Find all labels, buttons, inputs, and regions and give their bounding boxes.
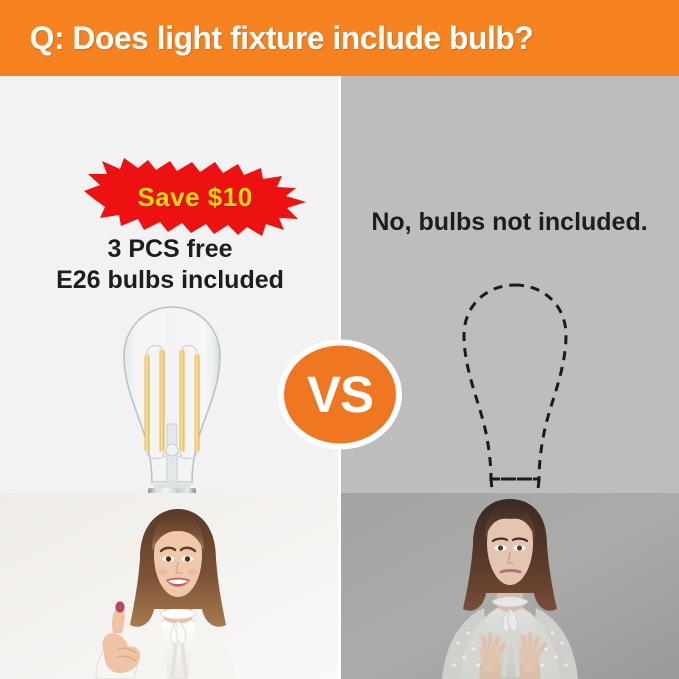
disappointed-customer-photo [340, 493, 679, 679]
left-headline-line2: E26 bulbs included [0, 265, 340, 296]
comparison-section: Save $10 3 PCS free E26 bulbs included N… [0, 76, 679, 493]
right-headline: No, bulbs not included. [340, 208, 679, 237]
save-badge: Save $10 [84, 158, 306, 236]
left-headline-line1: 3 PCS free [0, 234, 340, 265]
page-title: Q: Does light fixture include bulb? [0, 20, 533, 57]
happy-customer-photo [0, 493, 340, 679]
left-headline: 3 PCS free E26 bulbs included [0, 234, 340, 296]
vs-badge: VS [277, 338, 403, 451]
header-banner: Q: Does light fixture include bulb? [0, 0, 679, 76]
photo-divider [338, 493, 341, 679]
starburst-icon [84, 158, 306, 236]
comparison-infographic: Q: Does light fixture include bulb? Save… [0, 0, 679, 679]
vs-badge-fill [284, 346, 396, 444]
photo-strip [0, 493, 679, 679]
